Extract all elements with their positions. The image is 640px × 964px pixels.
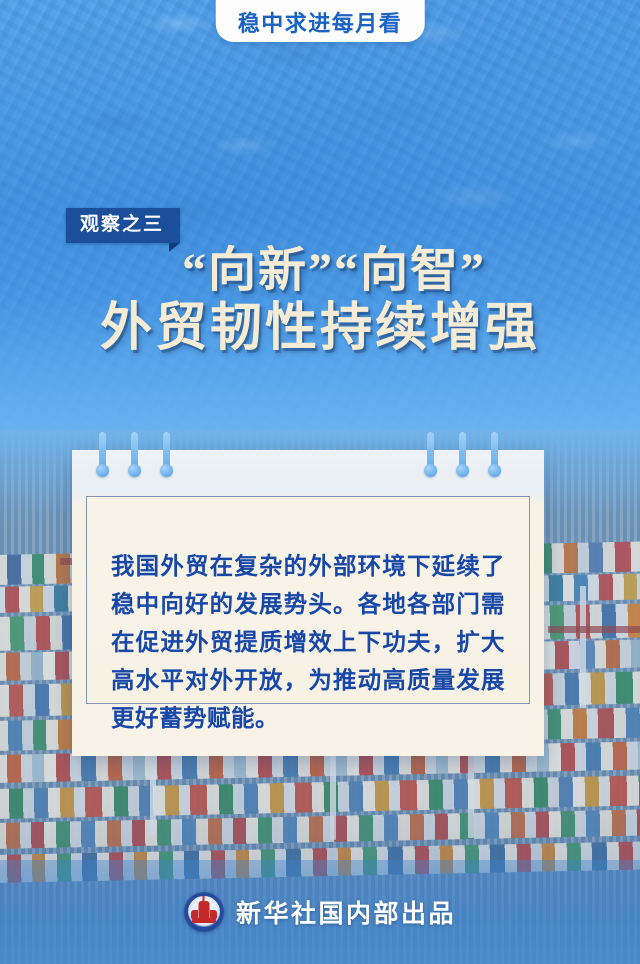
binder-ring-icon bbox=[128, 432, 141, 488]
top-banner-pill: 稳中求进每月看 bbox=[216, 0, 425, 42]
poster-root: 稳中求进每月看 观察之三 “向新”“向智” 外贸韧性持续增强 bbox=[0, 0, 640, 964]
top-banner-label: 稳中求进每月看 bbox=[238, 13, 403, 35]
headline-line-1: “向新”“向智” bbox=[0, 245, 640, 297]
observation-badge-label: 观察之三 bbox=[80, 214, 164, 235]
observation-badge: 观察之三 bbox=[66, 208, 180, 243]
note-card: 我国外贸在复杂的外部环境下延续了稳中向好的发展势头。各地各部门需在促进外贸提质增… bbox=[72, 450, 544, 756]
headline-line-2: 外贸韧性持续增强 bbox=[0, 301, 640, 357]
note-card-paper: 我国外贸在复杂的外部环境下延续了稳中向好的发展势头。各地各部门需在促进外贸提质增… bbox=[86, 496, 530, 704]
binder-ring-icon bbox=[424, 432, 437, 488]
binder-ring-icon bbox=[160, 432, 173, 488]
binder-ring-icon bbox=[488, 432, 501, 488]
binder-ring-icon bbox=[456, 432, 469, 488]
headline-block: “向新”“向智” 外贸韧性持续增强 bbox=[0, 245, 640, 357]
binder-ring-icon bbox=[96, 432, 109, 488]
xinhua-logo-icon bbox=[184, 892, 224, 932]
binder-rings-group bbox=[72, 432, 544, 496]
footer-credit-bar: 新华社国内部出品 bbox=[0, 860, 640, 964]
footer-credit-label: 新华社国内部出品 bbox=[236, 894, 456, 930]
note-card-body-text: 我国外贸在复杂的外部环境下延续了稳中向好的发展势头。各地各部门需在促进外贸提质增… bbox=[111, 547, 505, 737]
